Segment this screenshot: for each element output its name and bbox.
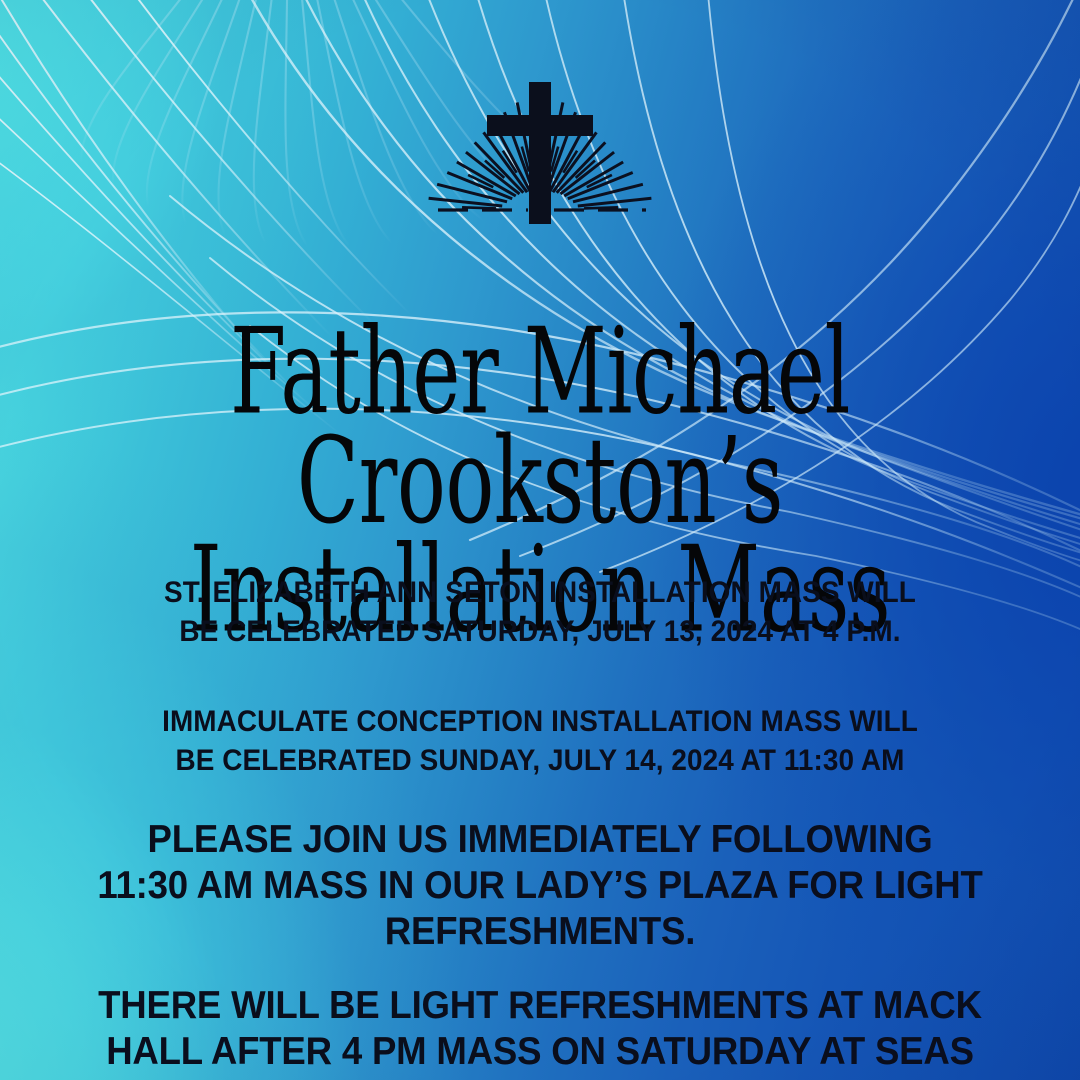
- background-vignette: [0, 0, 1080, 1080]
- flyer-canvas: Father Michael Crookston’s Installation …: [0, 0, 1080, 1080]
